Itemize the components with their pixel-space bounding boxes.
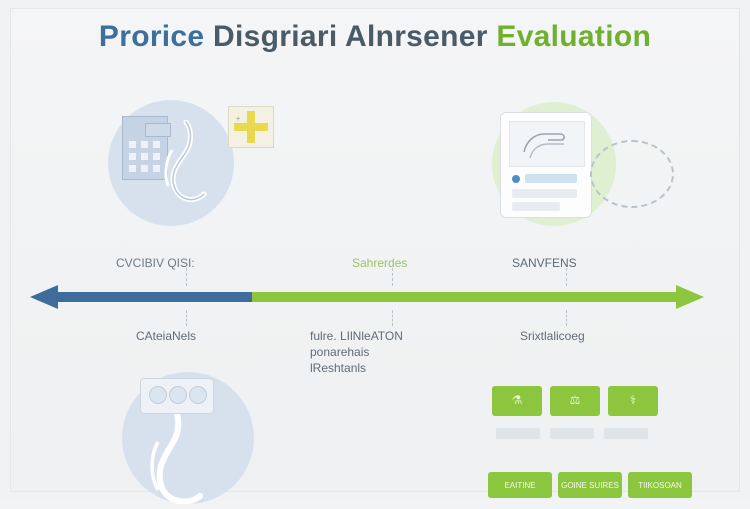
timeline-tick: [392, 310, 393, 326]
chip-label-3[interactable]: TIIKOSOAN: [628, 472, 692, 498]
chip-label-2[interactable]: GOINE SUIRES: [558, 472, 622, 498]
placeholder-bar: [604, 428, 648, 439]
timeline-tick: [566, 310, 567, 326]
tablet-icon: [500, 112, 592, 218]
placeholder-bar: [496, 428, 540, 439]
chip-label-1[interactable]: EAITINE: [488, 472, 552, 498]
medical-cross-icon: [228, 106, 274, 148]
timeline-tick: [566, 268, 567, 286]
chip-icon-3[interactable]: ⚕: [608, 386, 658, 416]
timeline-description-2: fulre. LIlNleATON ponarehais lReshtanls: [310, 328, 403, 376]
title-part-b: Disgriari Alnrsener: [213, 20, 488, 53]
hand-gesture-icon: [510, 122, 584, 166]
timeline-arrow: [30, 285, 720, 309]
timeline-tick: [186, 268, 187, 286]
placeholder-bar: [550, 428, 594, 439]
tablet-screen: [509, 121, 585, 167]
timeline-tick: [392, 268, 393, 286]
medical-cross-label: +: [236, 116, 240, 123]
chip-row-bottom: EAITINE GOINE SUIRES TIIKOSOAN: [488, 472, 692, 498]
page-frame: [10, 8, 740, 492]
pill-tray-icon: [140, 378, 214, 414]
dashed-loop-decoration: [590, 140, 674, 208]
timeline-segment-green: [252, 292, 678, 302]
timeline-stage-label-2: Sahrerdes: [352, 256, 407, 270]
chip-row-top: ⚗ ⚖ ⚕: [492, 386, 658, 416]
chip-icon-2[interactable]: ⚖: [550, 386, 600, 416]
title-part-a: Prorice: [99, 20, 205, 53]
page-title: Prorice Disgriari Alnrsener Evaluation: [0, 20, 750, 54]
timeline-segment-blue: [56, 292, 252, 302]
chip-row-middle: [496, 428, 648, 439]
timeline-tick: [186, 310, 187, 326]
diagram-page: Prorice Disgriari Alnrsener Evaluation +: [0, 0, 750, 500]
timeline-stage-label-3: SANVFENS: [512, 256, 577, 270]
timeline-description-1: CAteiaNels: [136, 328, 196, 344]
timeline-stage-label-1: CVCIBIV QISI:: [116, 256, 195, 270]
timeline-description-3: Srixtlalicoeg: [520, 328, 585, 344]
hospital-stomach-illustration: [108, 100, 234, 226]
arrow-right-head: [676, 285, 704, 309]
scale-icon: ⚖: [550, 393, 600, 407]
stomach-icon: [152, 120, 224, 216]
medical-icon: ⚕: [608, 393, 658, 407]
tablet-status-dot: [512, 175, 520, 183]
chip-icon-1[interactable]: ⚗: [492, 386, 542, 416]
flask-icon: ⚗: [492, 393, 542, 407]
title-part-c: Evaluation: [496, 20, 651, 53]
arrow-left-head: [30, 285, 58, 309]
